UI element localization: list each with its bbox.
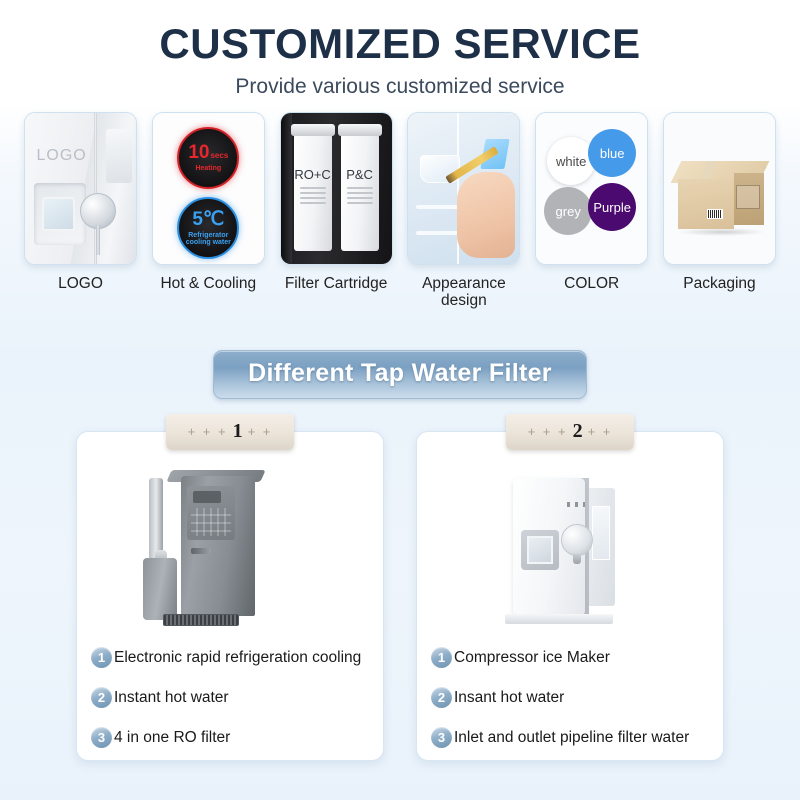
feature-item: 3 4 in one RO filter bbox=[91, 718, 369, 758]
heating-unit: secs bbox=[210, 151, 228, 160]
heating-badge: 10 secs Heating bbox=[177, 127, 239, 189]
cooling-badge: 5℃ Refrigerator cooling water bbox=[177, 197, 239, 259]
service-card-color[interactable]: white blue grey Purple COLOR bbox=[535, 112, 648, 310]
feature-text: Insant hot water bbox=[454, 689, 564, 707]
service-card-appearance-design[interactable]: Appearance design bbox=[407, 112, 520, 310]
color-swatch-purple[interactable]: Purple bbox=[588, 183, 636, 231]
section-banner-wrap: Different Tap Water Filter bbox=[0, 350, 800, 399]
ribbon-plus-right: + + bbox=[248, 424, 273, 439]
ice-maker-spout bbox=[573, 554, 581, 564]
fridge-shelf bbox=[416, 205, 458, 209]
ice-maker-ice-window bbox=[527, 536, 553, 564]
service-card-label: Filter Cartridge bbox=[280, 275, 393, 292]
box-handling-symbols bbox=[736, 185, 760, 209]
cartridge-label-2: P&C bbox=[341, 167, 379, 182]
feature-item: 2 Instant hot water bbox=[91, 678, 369, 718]
dispenser-logo-text: LOGO bbox=[25, 147, 98, 165]
box-shadow bbox=[678, 228, 766, 236]
cartridge-cap bbox=[338, 124, 382, 136]
box-front-face bbox=[678, 179, 734, 229]
feature-number-badge: 2 bbox=[91, 687, 112, 708]
ribbon-plus-left: + + + bbox=[188, 424, 228, 439]
product-panel-1[interactable]: + + + 1 + + 1 Electronic rapid refrigera… bbox=[76, 431, 384, 761]
feature-text: Inlet and outlet pipeline filter water bbox=[454, 729, 689, 747]
dispenser-drip-tray bbox=[163, 614, 239, 626]
feature-text: 4 in one RO filter bbox=[114, 729, 230, 747]
service-card-label: Hot & Cooling bbox=[152, 275, 265, 292]
cooling-caption: Refrigerator cooling water bbox=[179, 232, 237, 247]
cartridge-cap bbox=[291, 124, 335, 136]
dispenser-keypad bbox=[191, 508, 231, 536]
service-card-filter-cartridge[interactable]: RO+C P&C Filter Cartridge bbox=[280, 112, 393, 310]
page-title: CUSTOMIZED SERVICE bbox=[0, 22, 800, 66]
hand-icon bbox=[457, 172, 515, 258]
feature-text: Instant hot water bbox=[114, 689, 229, 707]
feature-text: Electronic rapid refrigeration cooling bbox=[114, 649, 361, 667]
box-barcode bbox=[707, 209, 723, 219]
feature-number-badge: 3 bbox=[91, 727, 112, 748]
ice-maker-rear-window bbox=[592, 506, 610, 560]
cartridge-text-lines bbox=[300, 187, 326, 207]
grey-water-dispenser-image bbox=[77, 462, 383, 632]
cartridge-tube-1: RO+C bbox=[294, 133, 332, 251]
feature-item: 3 Inlet and outlet pipeline filter water bbox=[431, 718, 709, 758]
ribbon-plus-right: + + bbox=[588, 424, 613, 439]
page-subtitle: Provide various customized service bbox=[0, 75, 800, 99]
filter-cartridge-icon: RO+C P&C bbox=[280, 112, 393, 265]
color-swatch-blue[interactable]: blue bbox=[588, 129, 636, 177]
product-ribbon-1: + + + 1 + + bbox=[166, 414, 294, 450]
service-card-label: COLOR bbox=[535, 275, 648, 292]
dispenser-window bbox=[42, 197, 75, 231]
cartridge-text-lines bbox=[347, 187, 373, 207]
dispenser-display-screen bbox=[193, 491, 221, 503]
page-header: CUSTOMIZED SERVICE Provide various custo… bbox=[0, 0, 800, 99]
appearance-design-icon bbox=[407, 112, 520, 265]
fridge-shelf bbox=[416, 231, 458, 235]
dispenser-nozzle bbox=[191, 548, 211, 554]
feature-number-badge: 1 bbox=[91, 647, 112, 668]
service-card-hot-cooling[interactable]: 10 secs Heating 5℃ Refrigerator cooling … bbox=[152, 112, 265, 310]
service-card-logo[interactable]: LOGO LOGO bbox=[24, 112, 137, 310]
product-ribbon-2: + + + 2 + + bbox=[506, 414, 634, 450]
heating-badge-row: 10 secs bbox=[188, 143, 228, 162]
ice-maker-base bbox=[505, 614, 613, 624]
cooling-value: 5℃ bbox=[192, 210, 224, 229]
dispenser-water-tank bbox=[143, 558, 177, 620]
color-background bbox=[536, 113, 647, 264]
feature-number-badge: 2 bbox=[431, 687, 452, 708]
feature-item: 1 Electronic rapid refrigeration cooling bbox=[91, 638, 369, 678]
cartridge-label-1: RO+C bbox=[294, 167, 332, 182]
service-card-label: Appearance design bbox=[407, 275, 520, 310]
service-card-packaging[interactable]: Packaging bbox=[663, 112, 776, 310]
color-swatch-white[interactable]: white bbox=[547, 137, 595, 185]
feature-item: 2 Insant hot water bbox=[431, 678, 709, 718]
ice-maker-dispenser-knob bbox=[561, 524, 593, 556]
white-ice-maker-image bbox=[417, 462, 723, 632]
feature-number-badge: 3 bbox=[431, 727, 452, 748]
ribbon-number: 1 bbox=[233, 420, 243, 443]
hot-cooling-icon: 10 secs Heating 5℃ Refrigerator cooling … bbox=[152, 112, 265, 265]
product-panels: + + + 1 + + 1 Electronic rapid refrigera… bbox=[0, 431, 800, 761]
product-panel-2[interactable]: + + + 2 + + 1 Compressor ice Maker 2 Ins… bbox=[416, 431, 724, 761]
feature-list-1: 1 Electronic rapid refrigeration cooling… bbox=[77, 638, 383, 758]
feature-item: 1 Compressor ice Maker bbox=[431, 638, 709, 678]
feature-text: Compressor ice Maker bbox=[454, 649, 610, 667]
service-card-label: Packaging bbox=[663, 275, 776, 292]
section-banner: Different Tap Water Filter bbox=[213, 350, 587, 399]
dispenser-knob bbox=[80, 193, 116, 229]
cartridge-housing-side bbox=[281, 113, 292, 264]
ice-maker-indicator-dots bbox=[567, 502, 585, 507]
service-cards-row: LOGO LOGO 10 secs Heating 5℃ Refrigerato… bbox=[0, 99, 800, 310]
dispenser-stem bbox=[96, 225, 100, 255]
color-swatch-grey[interactable]: grey bbox=[544, 187, 592, 235]
heating-value: 10 bbox=[188, 143, 209, 162]
feature-number-badge: 1 bbox=[431, 647, 452, 668]
ribbon-number: 2 bbox=[573, 420, 583, 443]
logo-dispenser-icon: LOGO bbox=[24, 112, 137, 265]
ribbon-plus-left: + + + bbox=[528, 424, 568, 439]
dispenser-tall-panel bbox=[106, 129, 132, 183]
color-swatches-icon: white blue grey Purple bbox=[535, 112, 648, 265]
packaging-box-icon bbox=[663, 112, 776, 265]
service-card-label: LOGO bbox=[24, 275, 137, 292]
feature-list-2: 1 Compressor ice Maker 2 Insant hot wate… bbox=[417, 638, 723, 758]
cartridge-tube-2: P&C bbox=[341, 133, 379, 251]
heating-caption: Heating bbox=[195, 165, 221, 173]
